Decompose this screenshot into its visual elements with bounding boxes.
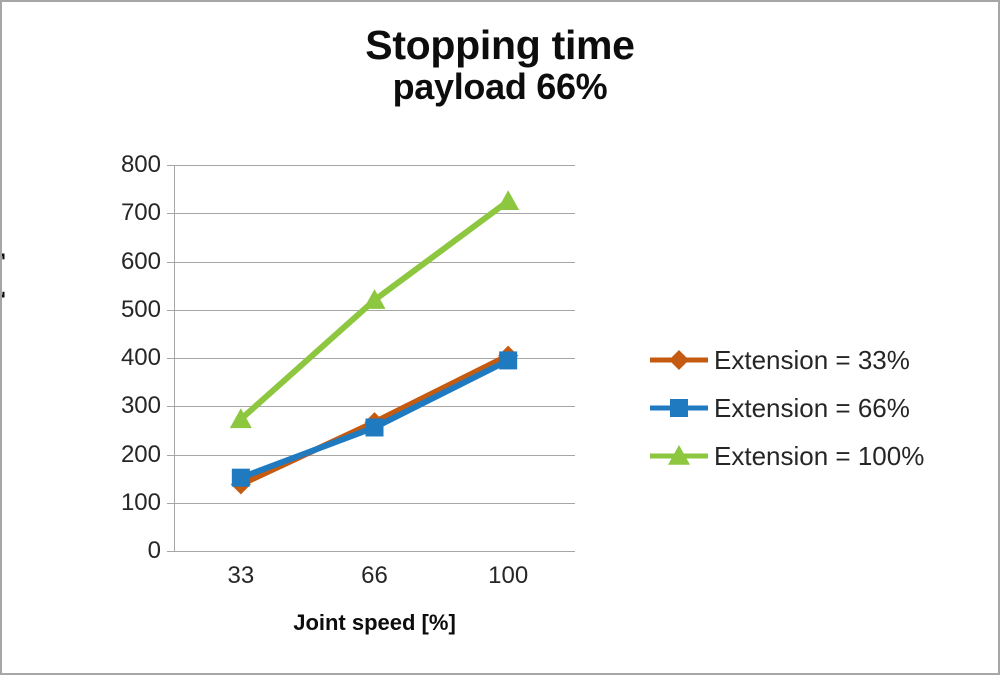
y-tick-label: 600 [121,248,161,276]
legend-label: Extension = 33% [714,345,910,376]
y-axis-tick [167,551,174,552]
y-tick-label: 0 [148,537,161,565]
y-tick-label: 200 [121,441,161,469]
data-point-marker [232,469,250,487]
series-layer [174,165,575,551]
chart-figure: Stopping time payload 66% Time [ms] Join… [0,0,1000,675]
data-point-marker [366,418,384,436]
data-point-marker [670,399,688,417]
x-tick-label: 100 [488,562,528,590]
chart-subtitle: payload 66% [2,67,998,107]
y-tick-label: 400 [121,344,161,372]
series-line [241,201,508,419]
legend-triangle-icon [650,444,708,468]
y-axis-tick [167,406,174,407]
y-tick-label: 700 [121,199,161,227]
y-axis-tick [167,503,174,504]
legend-item[interactable]: Extension = 33% [650,336,980,384]
y-axis-tick [167,213,174,214]
data-point-marker [499,351,517,369]
plot-area: 0100200300400500600700800 3366100 [174,165,575,551]
x-tick-label: 33 [227,562,254,590]
legend-item[interactable]: Extension = 66% [650,384,980,432]
data-point-marker [497,190,519,210]
x-tick-label: 66 [361,562,388,590]
y-axis-title: Time [ms] [0,224,6,384]
legend-label: Extension = 100% [714,441,924,472]
series-triangle [230,190,519,428]
chart-legend: Extension = 33%Extension = 66%Extension … [650,336,980,480]
data-point-marker [669,350,689,370]
gridline [174,551,575,552]
y-tick-label: 300 [121,392,161,420]
chart-title: Stopping time [2,24,998,67]
x-axis-title: Joint speed [%] [174,610,575,636]
y-tick-label: 800 [121,151,161,179]
legend-square-icon [650,396,708,420]
y-tick-label: 100 [121,489,161,517]
y-axis-tick [167,358,174,359]
legend-label: Extension = 66% [714,393,910,424]
legend-diamond-icon [650,348,708,372]
y-axis-tick [167,455,174,456]
legend-item[interactable]: Extension = 100% [650,432,980,480]
y-axis-tick [167,262,174,263]
y-axis-tick [167,310,174,311]
y-tick-label: 500 [121,296,161,324]
y-axis-tick [167,165,174,166]
title-block: Stopping time payload 66% [2,24,998,107]
